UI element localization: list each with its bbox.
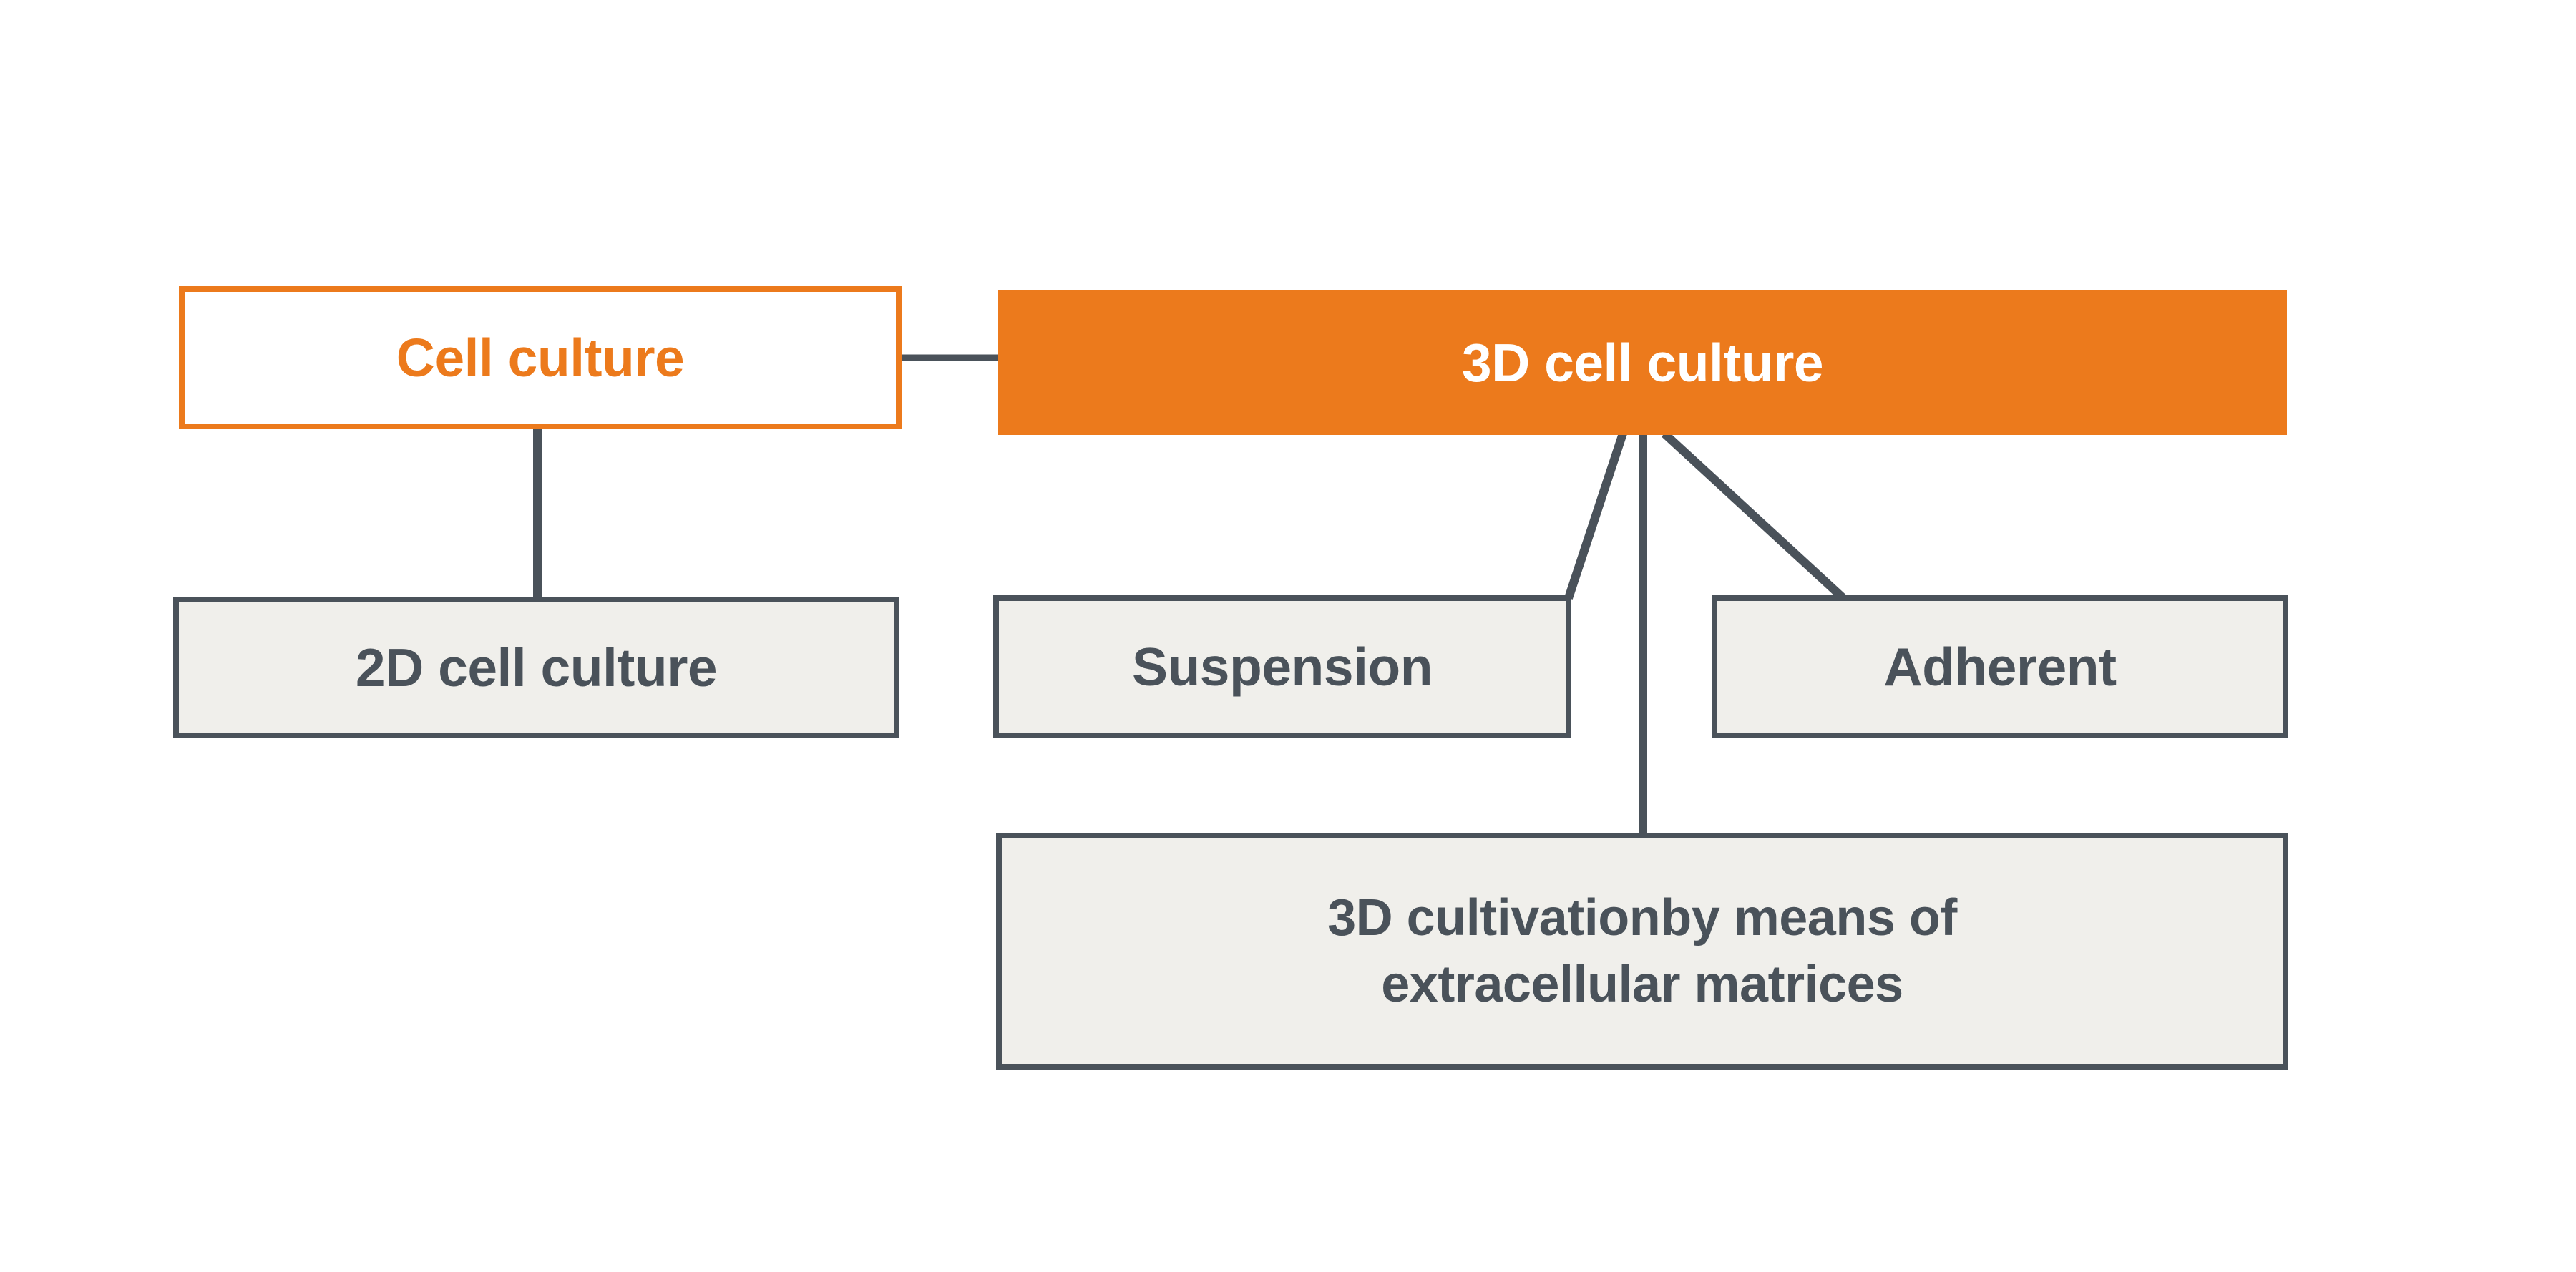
- node-2d-cell-culture[interactable]: 2D cell culture: [173, 597, 899, 738]
- edge-highlight-to-adherent: [1664, 434, 1843, 598]
- diagram-canvas: Cell culture 3D cell culture 2D cell cul…: [0, 0, 2576, 1272]
- node-cell-culture[interactable]: Cell culture: [179, 286, 902, 429]
- node-extracellular-matrices[interactable]: 3D cultivationby means of extracellular …: [996, 833, 2288, 1070]
- node-extracellular-matrices-label: 3D cultivationby means of extracellular …: [1002, 885, 2283, 1017]
- node-suspension-label: Suspension: [999, 637, 1566, 697]
- node-3d-cell-culture-label: 3D cell culture: [998, 333, 2287, 393]
- node-2d-cell-culture-label: 2D cell culture: [179, 637, 894, 698]
- node-cell-culture-label: Cell culture: [185, 328, 896, 388]
- edge-highlight-to-suspension: [1568, 434, 1623, 598]
- node-adherent[interactable]: Adherent: [1712, 595, 2288, 738]
- node-suspension[interactable]: Suspension: [993, 595, 1571, 738]
- node-adherent-label: Adherent: [1717, 637, 2283, 697]
- node-3d-cell-culture[interactable]: 3D cell culture: [998, 290, 2287, 435]
